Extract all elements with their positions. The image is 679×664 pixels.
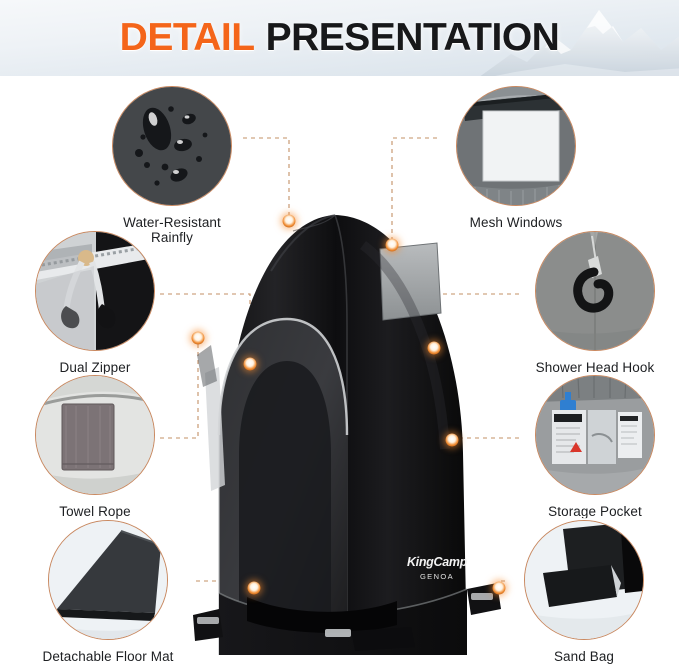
- dual-zipper-pulls-photo: [35, 231, 155, 351]
- callout-label: Towel Rope: [27, 504, 163, 519]
- detachable-floor-mat-photo: [48, 520, 168, 640]
- marker-dot-mesh-window[interactable]: [386, 239, 399, 252]
- interior-storage-pockets-photo: [535, 375, 655, 495]
- callout-label: Mesh Windows: [448, 215, 584, 230]
- callout-label: Dual Zipper: [27, 360, 163, 375]
- black-shower-head-hook-photo: [535, 231, 655, 351]
- callout-water-resistant-rainfly[interactable]: Water-Resistant Rainfly: [104, 86, 240, 245]
- marker-dot-towel-rope[interactable]: [192, 332, 205, 345]
- page-title-highlight: DETAIL: [120, 16, 255, 60]
- marker-dot-dual-zipper[interactable]: [244, 358, 257, 371]
- towel-hanging-on-rope-photo: [35, 375, 155, 495]
- product-tent-illustration: [175, 185, 515, 655]
- detail-presentation-page: DETAIL PRESENTATION: [0, 0, 679, 661]
- callout-detachable-floor-mat[interactable]: Detachable Floor Mat: [40, 520, 176, 664]
- callout-towel-rope[interactable]: Towel Rope: [27, 375, 163, 519]
- sand-bag-flap-photo: [524, 520, 644, 640]
- marker-dot-storage-pocket[interactable]: [446, 434, 459, 447]
- page-title-rest: PRESENTATION: [266, 16, 560, 60]
- callout-label: Storage Pocket: [527, 504, 663, 519]
- mesh-window-panel-photo: [456, 86, 576, 206]
- callout-sand-bag[interactable]: Sand Bag: [516, 520, 652, 664]
- callout-label: Shower Head Hook: [527, 360, 663, 375]
- marker-dot-shower-hook[interactable]: [428, 342, 441, 355]
- callout-label: Detachable Floor Mat: [40, 649, 176, 664]
- callout-dual-zipper[interactable]: Dual Zipper: [27, 231, 163, 375]
- page-title: DETAIL PRESENTATION: [0, 0, 679, 76]
- callout-storage-pocket[interactable]: Storage Pocket: [527, 375, 663, 519]
- callout-mesh-windows[interactable]: Mesh Windows: [448, 86, 584, 230]
- marker-dot-rainfly[interactable]: [283, 215, 296, 228]
- page-header: DETAIL PRESENTATION: [0, 0, 679, 76]
- callout-shower-head-hook[interactable]: Shower Head Hook: [527, 231, 663, 375]
- marker-dot-sand-bag[interactable]: [493, 582, 506, 595]
- callout-label: Sand Bag: [516, 649, 652, 664]
- water-droplets-on-fabric-photo: [112, 86, 232, 206]
- marker-dot-floor-mat[interactable]: [248, 582, 261, 595]
